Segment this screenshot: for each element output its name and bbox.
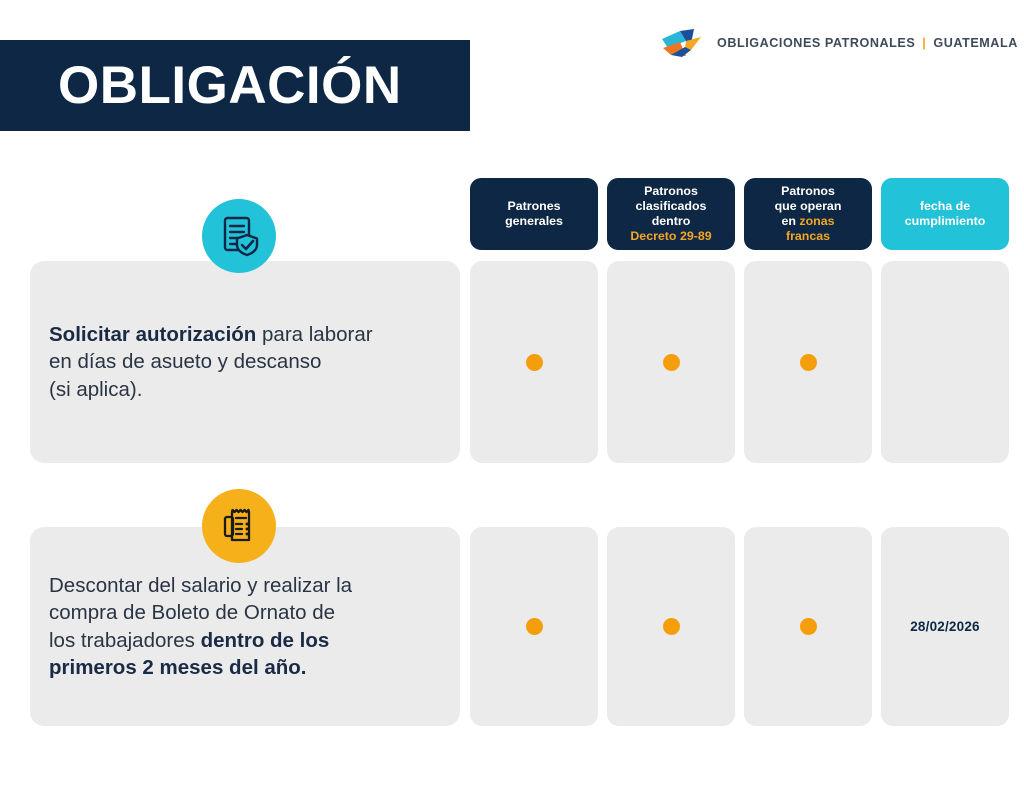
column-header-patrones-generales[interactable]: Patrones generales [470,178,598,250]
column-header-line: generales [505,214,563,229]
cell-row2-zonas-francas[interactable] [744,527,872,726]
status-dot [800,354,817,371]
cell-row2-patrones-generales[interactable] [470,527,598,726]
page-title: OBLIGACIÓN [58,59,402,112]
column-header-patronos-zonas-francas[interactable]: Patronos que operan en zonas francas [744,178,872,250]
date-value: 28/02/2026 [910,619,980,634]
status-dot [526,618,543,635]
cell-row1-decreto-29-89[interactable] [607,261,735,463]
column-header-line: en zonas [775,214,842,229]
obligation-text-rest: (si aplica). [49,378,142,401]
obligation-text-bold: primeros 2 meses del año. [49,656,307,679]
column-header-line: Patronos [775,184,842,199]
column-header-line-accent: zonas [799,214,834,228]
column-header-line-text: en [781,214,799,228]
status-dot [526,354,543,371]
brand-separator: | [922,36,926,50]
obligation-text: Solicitar autorización para laborar en d… [49,321,373,403]
cell-row2-decreto-29-89[interactable] [607,527,735,726]
column-header-line: cumplimiento [905,214,986,229]
brand-text: OBLIGACIONES PATRONALES | GUATEMALA [717,36,1018,50]
column-header-line-accent: Decreto 29-89 [630,229,711,244]
document-shield-check-icon [219,215,259,257]
row-icon-receipt [202,489,276,563]
row-icon-document-shield [202,199,276,273]
receipt-ticket-icon [219,506,259,546]
obligation-text-rest: los trabajadores [49,629,201,652]
status-dot [663,618,680,635]
obligation-card-solicitar-autorizacion: Solicitar autorización para laborar en d… [30,261,460,463]
cell-row1-zonas-francas[interactable] [744,261,872,463]
column-header-line: dentro [630,214,711,229]
column-header-line: Patronos [630,184,711,199]
arrow-chevron-logo-icon [660,28,708,58]
obligation-text-rest: Descontar del salario y realizar la [49,574,352,597]
brand-name: OBLIGACIONES PATRONALES [717,36,915,50]
cell-row1-fecha-cumplimiento[interactable] [881,261,1009,463]
page-title-bar: OBLIGACIÓN [0,40,470,131]
obligation-text-bold: dentro de los [201,629,330,652]
column-header-line: Patrones [505,199,563,214]
status-dot [663,354,680,371]
column-header-line: que operan [775,199,842,214]
column-header-fecha-de-cumplimiento[interactable]: fecha de cumplimiento [881,178,1009,250]
obligation-text: Descontar del salario y realizar la comp… [49,572,352,681]
column-header-line: clasificados [630,199,711,214]
obligation-text-rest: compra de Boleto de Ornato de [49,601,335,624]
obligation-text-rest: en días de asueto y descanso [49,350,321,373]
cell-row2-fecha-cumplimiento[interactable]: 28/02/2026 [881,527,1009,726]
obligation-text-rest: para laborar [256,323,372,346]
cell-row1-patrones-generales[interactable] [470,261,598,463]
obligation-text-bold: Solicitar autorización [49,323,256,346]
column-header-line: fecha de [905,199,986,214]
brand-country: GUATEMALA [933,36,1017,50]
column-header-patronos-decreto-29-89[interactable]: Patronos clasificados dentro Decreto 29-… [607,178,735,250]
column-header-line-accent: francas [775,229,842,244]
status-dot [800,618,817,635]
brand-logo: OBLIGACIONES PATRONALES | GUATEMALA [660,28,1018,58]
